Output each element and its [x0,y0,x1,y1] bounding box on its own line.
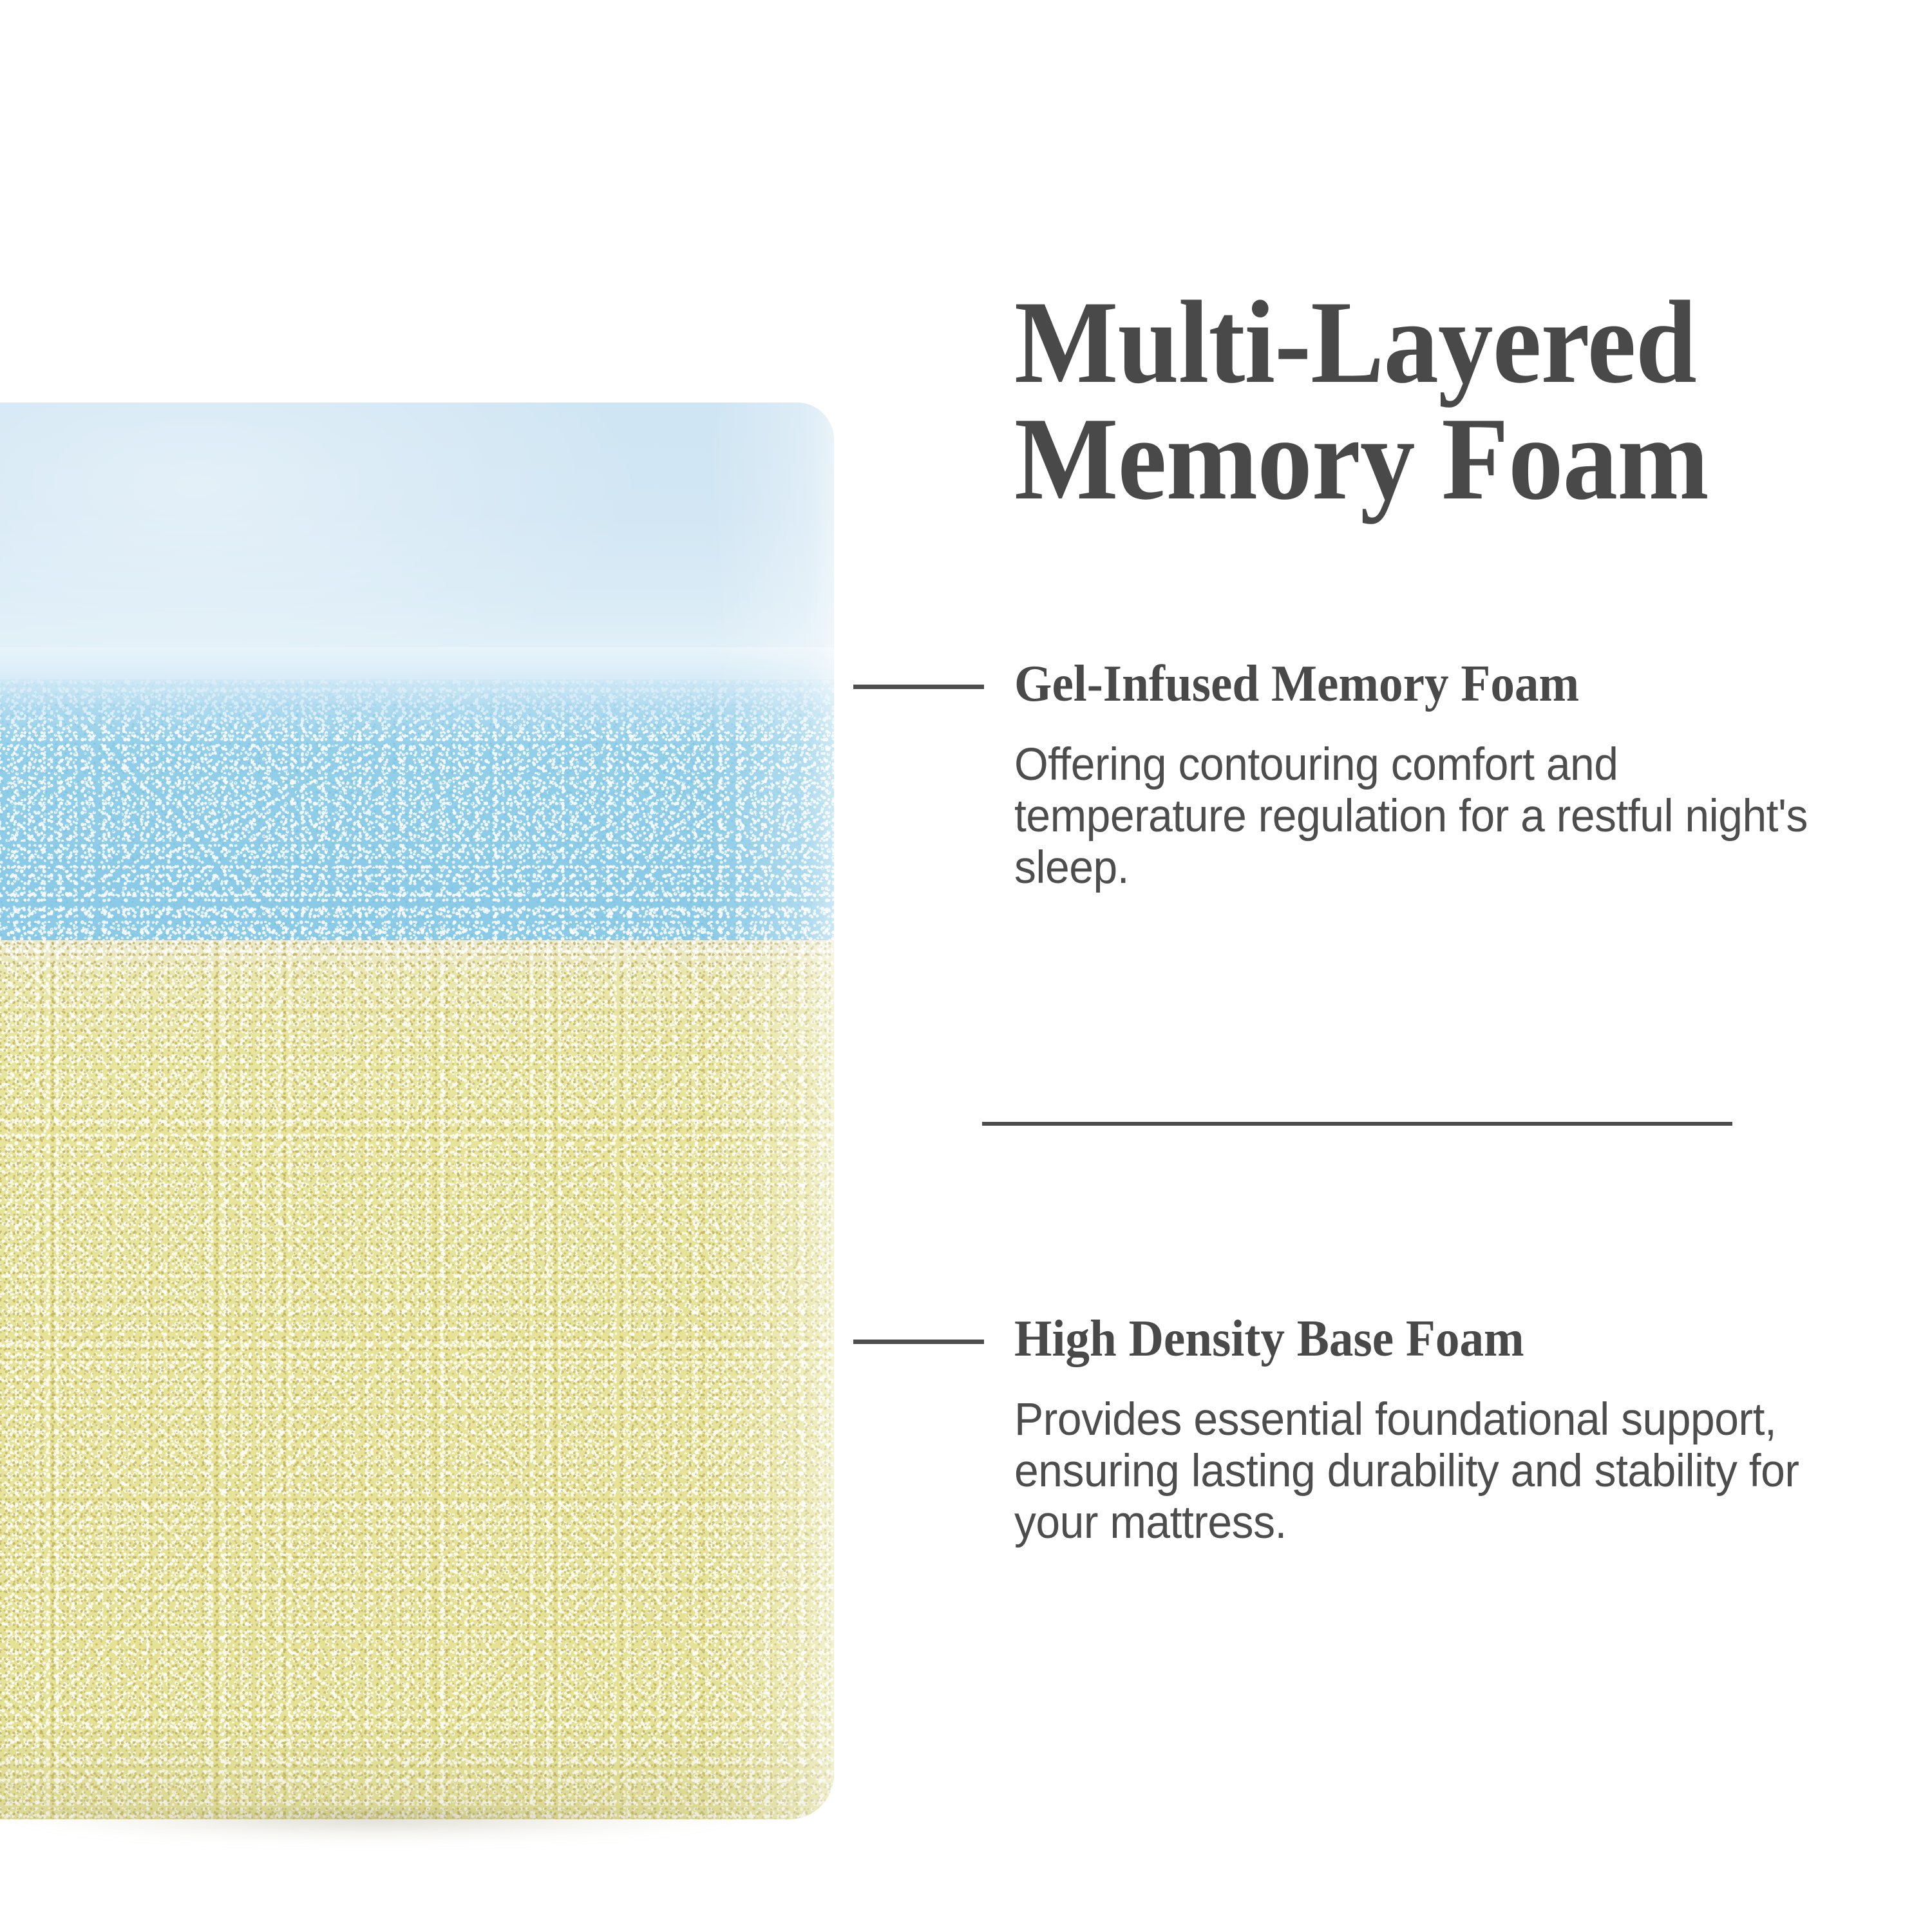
page-title: Multi-Layered Memory Foam [1014,284,1817,516]
foam-layer-transition-haze [0,647,834,731]
leader-dash-icon [853,1340,984,1344]
feature-body-gel: Offering contouring comfort and temperat… [1014,739,1851,894]
feature-block-base: High Density Base Foam Provides essentia… [1014,1313,1851,1549]
feature-heading-base: High Density Base Foam [1014,1313,1524,1365]
foam-layer-top-surface [0,402,834,679]
feature-heading-row: Gel-Infused Memory Foam [1014,658,1851,720]
leader-dash-icon [853,685,984,689]
product-foam-image [0,402,834,1819]
foam-layer-high-density-base [0,940,834,1819]
content-column: Multi-Layered Memory Foam Gel-Infused Me… [1014,0,1871,1932]
foam-block [0,402,834,1819]
section-divider [982,1122,1732,1126]
feature-block-gel: Gel-Infused Memory Foam Offering contour… [1014,658,1851,894]
feature-body-base: Provides essential foundational support,… [1014,1394,1851,1549]
feature-heading-row: High Density Base Foam [1014,1313,1851,1375]
feature-heading-gel: Gel-Infused Memory Foam [1014,658,1579,710]
